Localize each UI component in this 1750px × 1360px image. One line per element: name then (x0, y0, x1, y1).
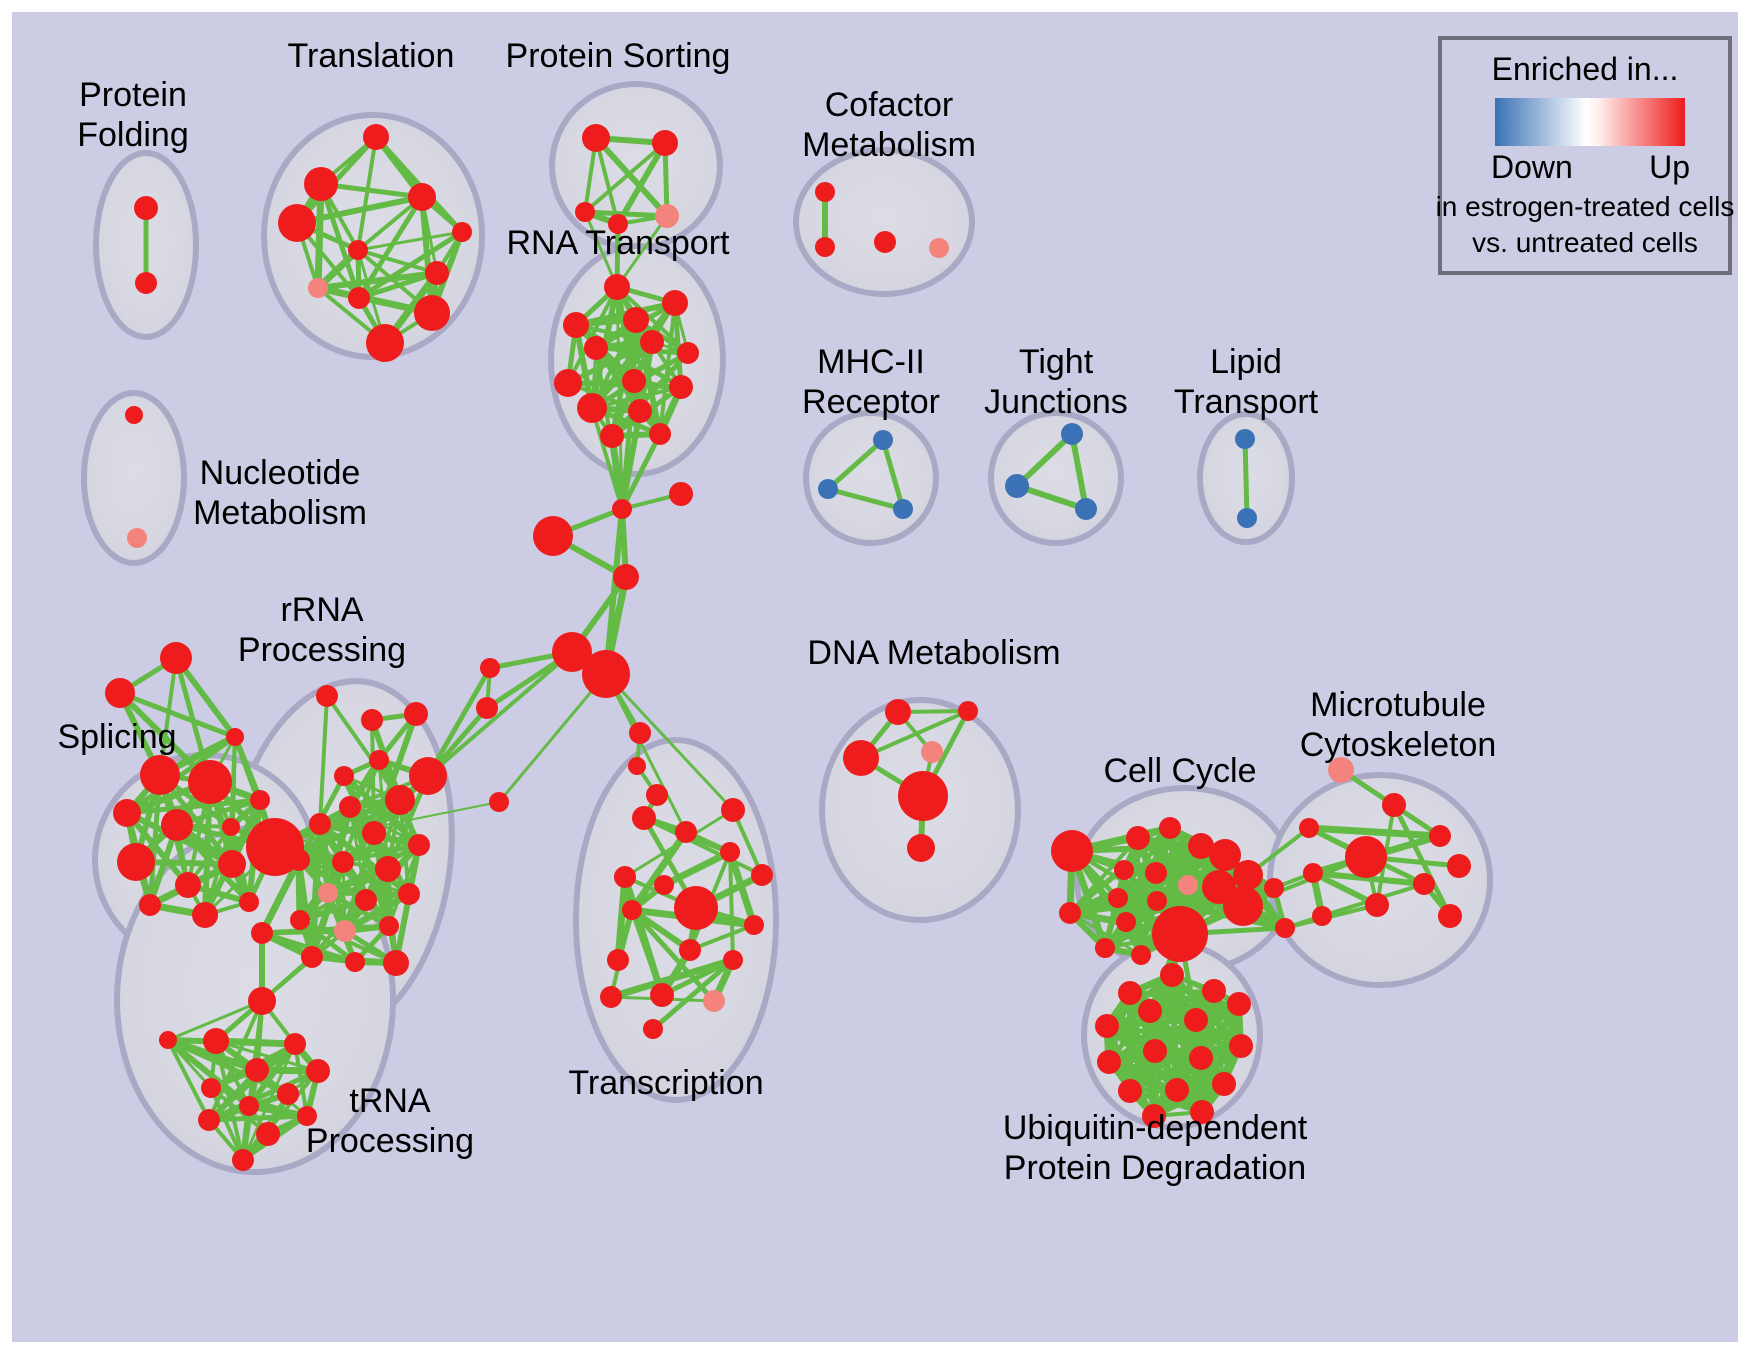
network-node[interactable] (533, 516, 573, 556)
legend-color-bar (1495, 98, 1685, 146)
network-node[interactable] (345, 952, 365, 972)
network-node[interactable] (332, 851, 354, 873)
network-node[interactable] (201, 1078, 221, 1098)
network-node[interactable] (815, 182, 835, 202)
network-node[interactable] (563, 312, 589, 338)
network-node[interactable] (366, 324, 404, 362)
network-node[interactable] (188, 760, 232, 804)
network-node[interactable] (1237, 508, 1257, 528)
network-node[interactable] (1235, 429, 1255, 449)
cluster-ellipse-mhc-ii-receptor[interactable] (806, 413, 936, 543)
network-node[interactable] (348, 240, 368, 260)
network-node[interactable] (398, 883, 420, 905)
network-node[interactable] (1413, 873, 1435, 895)
network-node[interactable] (232, 1149, 254, 1171)
network-node[interactable] (362, 821, 386, 845)
network-node[interactable] (1438, 904, 1462, 928)
network-node[interactable] (874, 231, 896, 253)
network-node[interactable] (654, 875, 674, 895)
network-node[interactable] (222, 818, 240, 836)
network-node[interactable] (675, 821, 697, 843)
network-node[interactable] (239, 1096, 259, 1116)
network-node[interactable] (1429, 825, 1451, 847)
network-node[interactable] (1095, 938, 1115, 958)
network-node[interactable] (893, 499, 913, 519)
network-node[interactable] (1075, 498, 1097, 520)
network-node[interactable] (363, 124, 389, 150)
network-node[interactable] (489, 792, 509, 812)
network-node[interactable] (198, 1109, 220, 1131)
network-node[interactable] (614, 866, 636, 888)
network-node[interactable] (958, 701, 978, 721)
network-node[interactable] (127, 528, 147, 548)
network-node[interactable] (622, 900, 642, 920)
network-node[interactable] (1116, 912, 1136, 932)
enrichment-network-figure: ProteinFoldingTranslationProtein Sorting… (0, 0, 1750, 1360)
network-node[interactable] (409, 757, 447, 795)
network-node[interactable] (361, 709, 383, 731)
network-node[interactable] (1223, 886, 1263, 926)
network-node[interactable] (301, 946, 323, 968)
network-node[interactable] (284, 1033, 306, 1055)
network-node[interactable] (379, 916, 399, 936)
network-node[interactable] (1212, 1072, 1236, 1096)
network-node[interactable] (815, 237, 835, 257)
cluster-label-cell-cycle: Cell Cycle (1103, 752, 1256, 790)
network-node[interactable] (383, 950, 409, 976)
network-node[interactable] (425, 261, 449, 285)
network-edge (1245, 439, 1247, 518)
network-node[interactable] (408, 834, 430, 856)
network-node[interactable] (476, 697, 498, 719)
network-node[interactable] (160, 642, 192, 674)
network-node[interactable] (669, 482, 693, 506)
network-node[interactable] (643, 1019, 663, 1039)
network-node[interactable] (907, 834, 935, 862)
network-node[interactable] (885, 699, 911, 725)
network-node[interactable] (921, 741, 943, 763)
network-node[interactable] (650, 983, 674, 1007)
network-canvas: ProteinFoldingTranslationProtein Sorting… (0, 0, 1750, 1360)
network-node[interactable] (1189, 1046, 1213, 1070)
network-node[interactable] (662, 290, 688, 316)
network-node[interactable] (1118, 981, 1142, 1005)
network-node[interactable] (623, 307, 649, 333)
network-node[interactable] (751, 864, 773, 886)
network-node[interactable] (256, 1122, 280, 1146)
network-node[interactable] (577, 393, 607, 423)
network-node[interactable] (1114, 860, 1134, 880)
network-node[interactable] (898, 771, 948, 821)
network-node[interactable] (703, 990, 725, 1012)
network-node[interactable] (843, 740, 879, 776)
network-node[interactable] (554, 369, 582, 397)
network-node[interactable] (604, 274, 630, 300)
network-node[interactable] (1095, 1014, 1119, 1038)
network-node[interactable] (1365, 893, 1389, 917)
network-node[interactable] (113, 799, 141, 827)
network-node[interactable] (105, 678, 135, 708)
network-node[interactable] (369, 750, 389, 770)
legend: Enriched in... Down Up in estrogen-treat… (1436, 38, 1735, 273)
network-node[interactable] (375, 856, 401, 882)
network-node[interactable] (414, 295, 450, 331)
network-node[interactable] (1382, 793, 1406, 817)
network-node[interactable] (277, 1083, 299, 1105)
network-node[interactable] (339, 796, 361, 818)
network-node[interactable] (818, 479, 838, 499)
network-node[interactable] (721, 798, 745, 822)
network-node[interactable] (1147, 891, 1167, 911)
network-node[interactable] (1160, 963, 1184, 987)
network-node[interactable] (640, 330, 664, 354)
network-node[interactable] (250, 790, 270, 810)
network-node[interactable] (348, 287, 370, 309)
network-node[interactable] (226, 728, 244, 746)
network-node[interactable] (1159, 817, 1181, 839)
network-node[interactable] (929, 238, 949, 258)
legend-subtitle-line2: vs. untreated cells (1472, 227, 1698, 258)
network-node[interactable] (628, 757, 646, 775)
network-node[interactable] (480, 658, 500, 678)
network-node[interactable] (582, 124, 610, 152)
network-node[interactable] (1126, 826, 1150, 850)
network-node[interactable] (1097, 1050, 1121, 1074)
network-node[interactable] (744, 915, 764, 935)
network-node[interactable] (629, 722, 651, 744)
legend-subtitle-line1: in estrogen-treated cells (1436, 191, 1735, 222)
network-node[interactable] (1059, 902, 1081, 924)
network-node[interactable] (646, 784, 668, 806)
network-node[interactable] (1152, 906, 1208, 962)
network-node[interactable] (203, 1028, 229, 1054)
network-node[interactable] (582, 650, 630, 698)
network-node[interactable] (622, 369, 646, 393)
network-node[interactable] (873, 430, 893, 450)
network-node[interactable] (1299, 818, 1319, 838)
network-node[interactable] (140, 755, 180, 795)
network-node[interactable] (1275, 918, 1295, 938)
network-node[interactable] (1184, 1008, 1208, 1032)
legend-title: Enriched in... (1492, 51, 1679, 87)
network-node[interactable] (1005, 474, 1029, 498)
network-node[interactable] (584, 336, 608, 360)
network-node[interactable] (1061, 423, 1083, 445)
network-node[interactable] (159, 1031, 177, 1049)
network-node[interactable] (355, 889, 377, 911)
legend-up-label: Up (1649, 149, 1690, 185)
network-node[interactable] (408, 183, 436, 211)
network-node[interactable] (1202, 979, 1226, 1003)
network-node[interactable] (652, 130, 678, 156)
network-node[interactable] (612, 499, 632, 519)
network-node[interactable] (1447, 854, 1471, 878)
network-node[interactable] (1143, 1039, 1167, 1063)
network-node[interactable] (1312, 906, 1332, 926)
network-node[interactable] (125, 406, 143, 424)
network-node[interactable] (306, 1059, 330, 1083)
network-node[interactable] (1145, 862, 1167, 884)
network-node[interactable] (175, 872, 201, 898)
network-node[interactable] (679, 939, 701, 961)
network-node[interactable] (607, 949, 629, 971)
network-node[interactable] (318, 883, 338, 903)
network-node[interactable] (1138, 999, 1162, 1023)
network-node[interactable] (1303, 863, 1323, 883)
network-node[interactable] (628, 399, 652, 423)
network-node[interactable] (239, 892, 259, 912)
network-node[interactable] (192, 902, 218, 928)
network-node[interactable] (288, 849, 310, 871)
network-node[interactable] (308, 278, 328, 298)
network-node[interactable] (723, 950, 743, 970)
cluster-label-splicing: Splicing (57, 718, 176, 756)
legend-down-label: Down (1491, 149, 1573, 185)
network-node[interactable] (1118, 1079, 1142, 1103)
network-node[interactable] (404, 702, 428, 726)
network-node[interactable] (575, 202, 595, 222)
network-node[interactable] (669, 375, 693, 399)
network-node[interactable] (278, 204, 316, 242)
network-node[interactable] (248, 987, 276, 1015)
network-node[interactable] (309, 813, 331, 835)
cluster-label-rna-transport: RNA Transport (507, 224, 731, 262)
cluster-label-protein-sorting: Protein Sorting (506, 37, 731, 75)
network-node[interactable] (316, 685, 338, 707)
network-node[interactable] (139, 894, 161, 916)
network-node[interactable] (452, 222, 472, 242)
network-node[interactable] (1131, 945, 1151, 965)
network-node[interactable] (632, 806, 656, 830)
network-node[interactable] (649, 423, 671, 445)
network-node[interactable] (600, 986, 622, 1008)
network-node[interactable] (134, 196, 158, 220)
cluster-label-translation: Translation (288, 37, 455, 75)
network-node[interactable] (1233, 860, 1263, 890)
network-node[interactable] (1108, 888, 1128, 908)
network-node[interactable] (135, 272, 157, 294)
network-node[interactable] (161, 809, 193, 841)
network-node[interactable] (613, 564, 639, 590)
network-node[interactable] (1051, 830, 1093, 872)
cluster-label-dna-metabolism: DNA Metabolism (807, 634, 1060, 672)
network-node[interactable] (334, 766, 354, 786)
network-node[interactable] (677, 342, 699, 364)
network-node[interactable] (1178, 875, 1198, 895)
network-node[interactable] (245, 1058, 269, 1082)
network-node[interactable] (1227, 992, 1251, 1016)
network-node[interactable] (251, 922, 273, 944)
network-node[interactable] (1229, 1034, 1253, 1058)
network-node[interactable] (600, 424, 624, 448)
network-node[interactable] (1264, 878, 1284, 898)
network-node[interactable] (720, 842, 740, 862)
network-node[interactable] (334, 920, 356, 942)
network-node[interactable] (218, 850, 246, 878)
network-node[interactable] (290, 910, 310, 930)
network-node[interactable] (1345, 836, 1387, 878)
network-node[interactable] (304, 167, 338, 201)
cluster-label-transcription: Transcription (568, 1064, 763, 1102)
network-node[interactable] (117, 843, 155, 881)
network-node[interactable] (385, 785, 415, 815)
network-node[interactable] (674, 886, 718, 930)
network-node[interactable] (1165, 1078, 1189, 1102)
